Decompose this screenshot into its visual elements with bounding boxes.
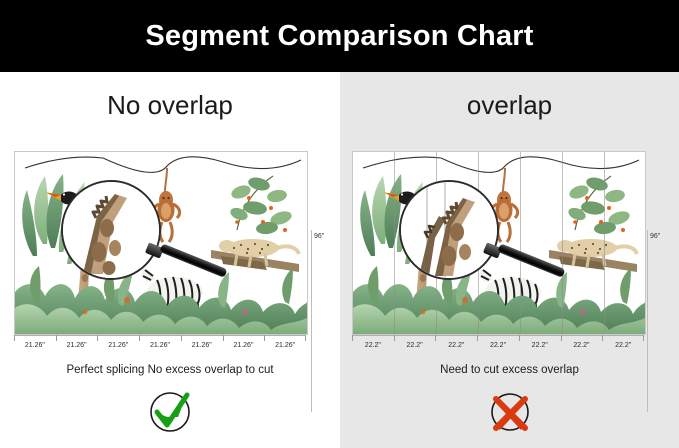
- segment-label: 22.2": [435, 335, 477, 355]
- ruler-segments: 22.2" 22.2" 22.2" 22.2" 22.2" 22.2" 22.2…: [352, 335, 644, 355]
- segment-label: 22.2": [352, 335, 394, 355]
- segment-label: 22.2": [602, 335, 644, 355]
- comparison-panels: No overlap: [0, 72, 679, 448]
- magnifier-handle: [159, 243, 227, 278]
- panel-overlap: overlap: [340, 72, 679, 448]
- panel-no-overlap: No overlap: [0, 72, 340, 448]
- mural-image-overlap: [352, 151, 646, 335]
- segment-label: 21.26": [97, 335, 139, 355]
- magnifier-lens: [61, 180, 161, 280]
- screenshot-root: Segment Comparison Chart No overlap: [0, 0, 679, 448]
- segment-label: 21.26": [56, 335, 98, 355]
- verdict-no-overlap: [0, 384, 340, 440]
- segment-label: 21.26": [181, 335, 223, 355]
- check-icon: [145, 387, 195, 437]
- height-label-no-overlap: 96": [314, 233, 324, 240]
- segment-label: 21.26": [139, 335, 181, 355]
- segment-label: 21.26": [14, 335, 56, 355]
- ruler-no-overlap: 21.26" 21.26" 21.26" 21.26" 21.26" 21.26…: [14, 335, 306, 355]
- panel-heading-overlap: overlap: [340, 90, 679, 121]
- magnifier-no-overlap: [61, 180, 231, 290]
- segment-label: 22.2": [561, 335, 603, 355]
- segment-label: 22.2": [519, 335, 561, 355]
- magnifier-handle: [497, 243, 565, 278]
- cross-icon: [485, 387, 535, 437]
- segment-label: 22.2": [477, 335, 519, 355]
- mural-overlap: 96": [352, 151, 644, 333]
- height-label-overlap: 96": [650, 233, 660, 240]
- mural-no-overlap: 96": [14, 151, 306, 333]
- segment-label: 21.26": [264, 335, 306, 355]
- seam-line: [394, 152, 395, 334]
- panel-heading-no-overlap: No overlap: [0, 90, 340, 121]
- segment-label: 21.26": [223, 335, 265, 355]
- magnifier-content-clean-seam: [63, 182, 159, 278]
- ruler-overlap: 22.2" 22.2" 22.2" 22.2" 22.2" 22.2" 22.2…: [352, 335, 644, 355]
- verdict-overlap: [340, 384, 679, 440]
- page-title: Segment Comparison Chart: [145, 20, 533, 53]
- magnifier-lens: [399, 180, 499, 280]
- ruler-segments: 21.26" 21.26" 21.26" 21.26" 21.26" 21.26…: [14, 335, 306, 355]
- caption-overlap: Need to cut excess overlap: [340, 364, 679, 376]
- magnifier-content-overlapping-seam: [401, 182, 497, 278]
- title-bar: Segment Comparison Chart: [0, 0, 679, 72]
- mural-image-no-overlap: [14, 151, 308, 335]
- caption-no-overlap: Perfect splicing No excess overlap to cu…: [0, 364, 340, 376]
- magnifier-overlap: [399, 180, 569, 290]
- seam-line: [604, 152, 605, 334]
- segment-label: 22.2": [394, 335, 436, 355]
